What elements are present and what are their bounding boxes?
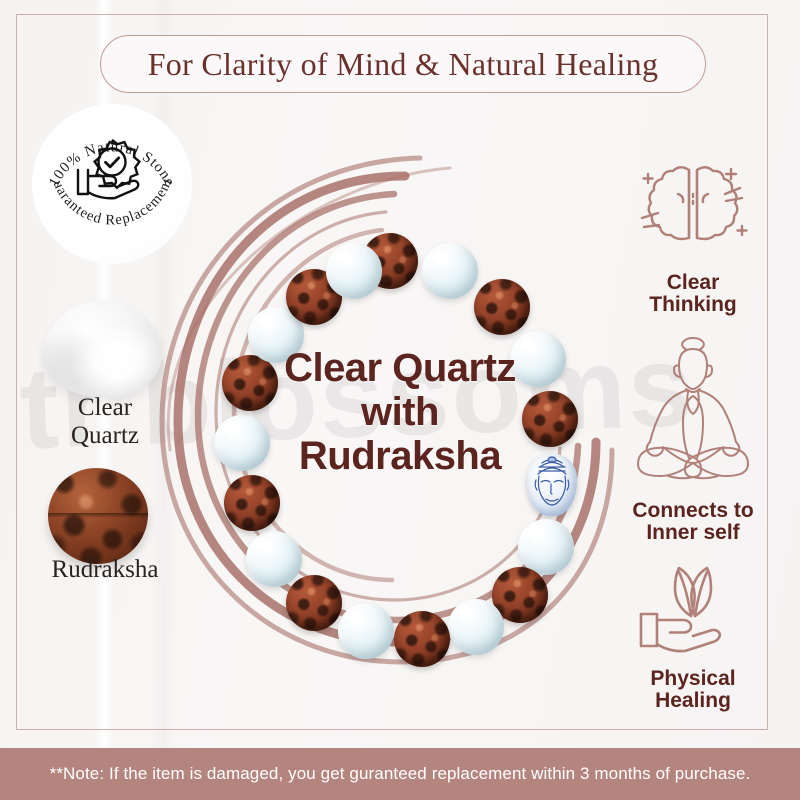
bead-quartz [448, 599, 504, 655]
hand-holding-leaves-icon [623, 564, 763, 664]
product-title: Clear Quartz with Rudraksha [268, 346, 532, 478]
bead-quartz [214, 415, 270, 471]
benefit-icon-wrap [608, 336, 778, 496]
benefit-connects-to-inner-self: Connects to Inner self [608, 336, 778, 545]
rudraksha-seed-image [48, 468, 148, 564]
benefit-caption-line1: Physical [608, 668, 778, 690]
benefit-clear-thinking: Clear Thinking [608, 148, 778, 317]
footer-note-bar: **Note: If the item is damaged, you get … [0, 748, 800, 800]
benefit-caption: Connects to Inner self [608, 500, 778, 545]
bead-quartz [338, 603, 394, 659]
product-title-line3: Rudraksha [268, 434, 532, 478]
bead-quartz [326, 243, 382, 299]
bead-buddha-head [527, 454, 577, 516]
benefit-icon-wrap [608, 564, 778, 664]
benefit-caption: Clear Thinking [608, 272, 778, 317]
meditating-person-lotus-icon [608, 336, 778, 496]
buddha-face-icon [527, 454, 577, 516]
bead-quartz [246, 531, 302, 587]
benefit-caption: Physical Healing [608, 668, 778, 713]
clear-quartz-stone-image [42, 300, 162, 398]
benefit-caption-line2: Inner self [608, 522, 778, 544]
product-infographic: tr blossoms For Clarity of Mind & Natura… [0, 0, 800, 800]
page-title: For Clarity of Mind & Natural Healing [148, 46, 659, 83]
benefit-icon-wrap [608, 148, 778, 268]
benefit-physical-healing: Physical Healing [608, 564, 778, 713]
bead-quartz [422, 243, 478, 299]
bead-rudraksha [474, 279, 530, 335]
benefit-caption-line1: Connects to [608, 500, 778, 522]
bead-rudraksha [286, 575, 342, 631]
brain-sparkle-icon [628, 148, 758, 268]
benefit-caption-line2: Healing [608, 690, 778, 712]
benefit-caption-line2: Thinking [608, 294, 778, 316]
bead-rudraksha [224, 475, 280, 531]
product-title-line2: with [268, 390, 532, 434]
headline-banner: For Clarity of Mind & Natural Healing [100, 35, 706, 93]
footer-note-text: **Note: If the item is damaged, you get … [50, 764, 751, 784]
product-title-line1: Clear Quartz [268, 346, 532, 390]
benefit-caption-line1: Clear [608, 272, 778, 294]
bead-rudraksha [394, 611, 450, 667]
